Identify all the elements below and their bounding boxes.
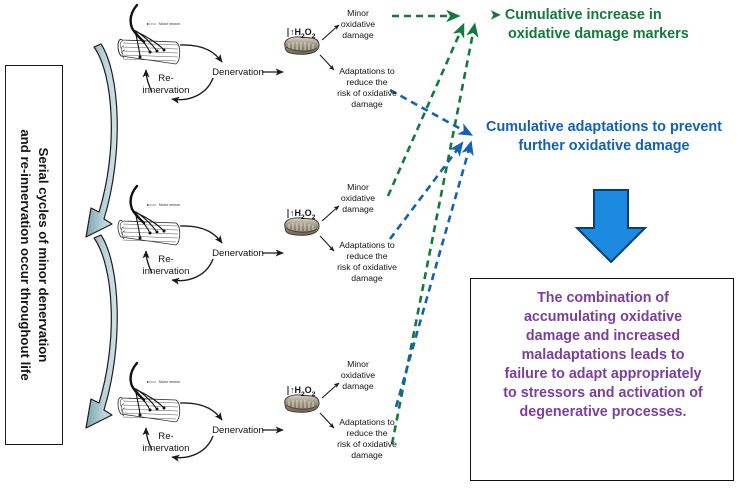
figure-canvas: Serial cycles of minor denervation and r… xyxy=(0,0,740,489)
cycle-block-arrow-2 xyxy=(86,235,117,428)
row-1-h2o2-label: ↑H2O2 xyxy=(290,27,315,41)
conclusion-line-4: maladaptations leads to xyxy=(477,346,729,365)
row-1-minor-damage-label: Minor oxidative damage xyxy=(327,8,389,41)
row-1-motor-neuron-label: Motor neuron xyxy=(159,22,180,26)
conclusion-line-7: degenerative processes. xyxy=(477,403,729,422)
conclusion-line-6: to stressors and activation of xyxy=(477,384,729,403)
row-3-adaptations-label: Adaptations to reduce the risk of oxidat… xyxy=(328,417,406,462)
caption-line-1: Serial cycles of minor denervation xyxy=(34,70,52,440)
conclusion-line-1: The combination of xyxy=(477,289,729,308)
cumulative-damage-line-2: oxidative damage markers xyxy=(508,25,738,44)
row-3-h2o2-label: ↑H2O2 xyxy=(290,385,315,399)
cumulative-adaptations-line-1: Cumulative adaptations to prevent xyxy=(470,118,738,137)
cumulative-adaptations-callout: Cumulative adaptations to prevent furthe… xyxy=(470,118,738,155)
bullet-arrow-icon: ➤ xyxy=(490,7,501,22)
cumulative-damage-callout: ➤Cumulative increase in oxidative damage… xyxy=(490,6,738,43)
row-1-denervation-label: Denervation xyxy=(212,67,264,79)
down-arrow-icon xyxy=(577,190,645,262)
row-3-minor-damage-label: Minor oxidative damage xyxy=(327,359,389,392)
row-2-h2o2-label: ↑H2O2 xyxy=(290,208,315,222)
arrow-fiber-to-denervation xyxy=(180,226,222,243)
conclusion-line-5: failure to adapt appropriately xyxy=(477,365,729,384)
conclusion-line-3: damage and increased xyxy=(477,327,729,346)
conclusion-text: The combination of accumulating oxidativ… xyxy=(477,289,729,422)
row-1-reinnervation-label: Re- innervation xyxy=(134,73,198,98)
conclusion-line-2: accumulating oxidative xyxy=(477,308,729,327)
cycle-block-arrow-1 xyxy=(86,44,117,237)
row-3-motor-neuron-label: Motor neuron xyxy=(159,380,180,384)
cumulative-adaptations-line-2: further oxidative damage xyxy=(470,137,738,156)
conclusion-box: The combination of accumulating oxidativ… xyxy=(470,278,734,481)
row-3-reinnervation-label: Re- innervation xyxy=(134,431,198,456)
arrow-fiber-to-denervation xyxy=(180,403,222,420)
cumulative-damage-line-1: Cumulative increase in xyxy=(505,7,662,23)
row-2-denervation-label: Denervation xyxy=(212,248,264,260)
row-2-minor-damage-label: Minor oxidative damage xyxy=(327,182,389,215)
caption-line-2: and re-innervation occur throughout life xyxy=(16,70,34,440)
blue-arrow-row-3 xyxy=(396,146,470,407)
row-3-denervation-label: Denervation xyxy=(212,425,264,437)
blue-arrow-row-2 xyxy=(390,146,460,239)
serial-cycles-caption-text: Serial cycles of minor denervation and r… xyxy=(16,70,52,440)
row-2-reinnervation-label: Re- innervation xyxy=(134,254,198,279)
arrow-fiber-to-denervation xyxy=(180,45,222,62)
serial-cycles-caption-box: Serial cycles of minor denervation and r… xyxy=(5,65,63,445)
row-2-motor-neuron-label: Motor neuron xyxy=(159,203,180,207)
green-arrow-row-2 xyxy=(388,28,462,196)
row-2-adaptations-label: Adaptations to reduce the risk of oxidat… xyxy=(328,240,406,285)
row-1-adaptations-label: Adaptations to reduce the risk of oxidat… xyxy=(328,66,406,111)
